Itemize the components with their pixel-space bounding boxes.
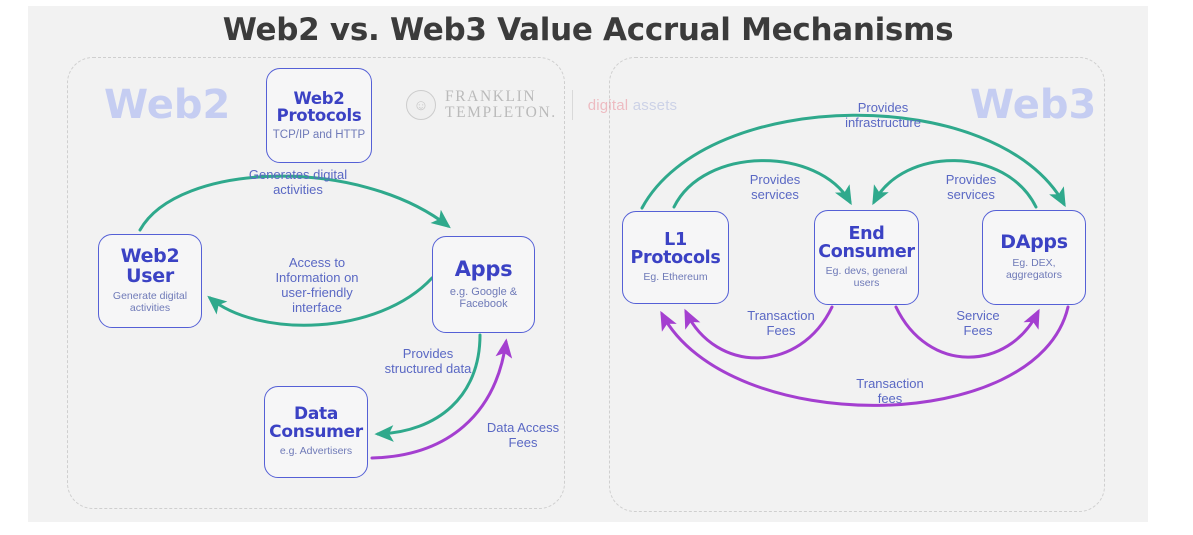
node-title: DApps	[1000, 233, 1068, 253]
node-subtitle: Generate digital activities	[104, 291, 196, 315]
diagram-canvas: Web2 vs. Web3 Value Accrual Mechanisms W…	[28, 6, 1148, 522]
node-l1-protocols[interactable]: L1 Protocols Eg. Ethereum	[622, 211, 729, 304]
node-web2-protocols[interactable]: Web2 Protocols TCP/IP and HTTP	[266, 68, 372, 163]
node-subtitle: TCP/IP and HTTP	[273, 129, 365, 142]
edge-label-provides-services-left: Provides services	[720, 173, 830, 203]
node-title: Apps	[455, 259, 513, 281]
edge-label-provides-services-right: Provides services	[916, 173, 1026, 203]
diagram-root: Web2 vs. Web3 Value Accrual Mechanisms W…	[0, 0, 1193, 535]
edge-label-provides-structured-data: Provides structured data	[363, 347, 493, 377]
edge-label-generates-digital-activities: Generates digital activities	[233, 168, 363, 198]
node-web2-user[interactable]: Web2 User Generate digital activities	[98, 234, 202, 328]
node-apps[interactable]: Apps e.g. Google & Facebook	[432, 236, 535, 333]
node-title: End Consumer	[818, 225, 915, 261]
node-data-consumer[interactable]: Data Consumer e.g. Advertisers	[264, 386, 368, 478]
node-subtitle: e.g. Advertisers	[280, 446, 352, 458]
edge-label-data-access-fees: Data Access Fees	[458, 421, 588, 451]
node-title: L1 Protocols	[628, 231, 723, 267]
node-dapps[interactable]: DApps Eg. DEX, aggregators	[982, 210, 1086, 305]
edge-label-service-fees: Service Fees	[928, 309, 1028, 339]
node-subtitle: Eg. devs, general users	[820, 266, 913, 290]
edge-label-transaction-fees-left: Transaction Fees	[726, 309, 836, 339]
node-end-consumer[interactable]: End Consumer Eg. devs, general users	[814, 210, 919, 305]
node-subtitle: e.g. Google & Facebook	[438, 286, 529, 311]
node-title: Web2 User	[104, 247, 196, 286]
node-subtitle: Eg. Ethereum	[643, 272, 707, 284]
node-subtitle: Eg. DEX, aggregators	[988, 258, 1080, 282]
node-title: Web2 Protocols	[272, 90, 366, 124]
edge-label-access-to-information: Access to Information on user-friendly i…	[252, 256, 382, 316]
edge-label-provides-infrastructure: Provides infrastructure	[818, 101, 948, 131]
node-title: Data Consumer	[269, 406, 363, 441]
edge-label-transaction-fees-center: Transaction fees	[830, 377, 950, 407]
